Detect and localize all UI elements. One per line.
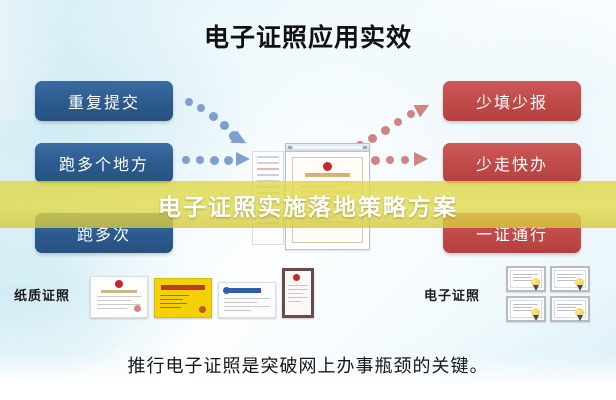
slide-title: 电子证照应用实效 — [0, 18, 616, 54]
benefit-box-1: 少填少报 — [443, 81, 581, 121]
electronic-certificate-icons — [506, 266, 590, 322]
connector-dot — [368, 134, 377, 143]
paper-certificate-label: 纸质证照 — [14, 285, 70, 304]
connector-dot — [407, 110, 415, 118]
connector-dot — [196, 156, 204, 164]
paper-cert-thumb-2 — [154, 278, 212, 318]
paper-cert-thumb-1 — [90, 276, 148, 318]
electronic-cert-icon-2 — [550, 266, 590, 292]
connector-dot — [386, 156, 394, 164]
connector-dot — [224, 156, 233, 165]
overlay-banner-text: 电子证照实施落地策略方案 — [0, 188, 616, 222]
browser-titlebar — [286, 144, 369, 152]
electronic-certificate-label: 电子证照 — [424, 285, 480, 304]
red-seal-icon — [323, 162, 332, 171]
paper-cert-thumb-3 — [218, 282, 276, 318]
connector-arrowhead — [414, 99, 433, 118]
problem-box-1: 重复提交 — [35, 81, 173, 121]
connector-dot — [185, 98, 193, 106]
benefit-box-2: 少走快办 — [443, 143, 581, 183]
paper-certificate-thumbnails — [90, 268, 314, 318]
slide-canvas: 电子证照应用实效 重复提交 跑多个地方 跑多次 少填少报 少走快办 一证通行 电… — [0, 0, 616, 400]
connector-dot — [381, 126, 390, 135]
paper-cert-thumb-4 — [282, 268, 314, 318]
connector-arrowhead — [414, 152, 428, 166]
connector-dot — [209, 112, 218, 121]
connector-dot — [220, 121, 229, 130]
electronic-cert-icon-4 — [550, 296, 590, 322]
connector-dot — [197, 104, 205, 112]
connector-dot — [401, 156, 409, 164]
connector-dot — [371, 156, 380, 165]
connector-dot — [394, 118, 402, 126]
slide-caption: 推行电子证照是突破网上办事瓶颈的关键。 — [0, 352, 616, 378]
electronic-cert-icon-1 — [506, 266, 546, 292]
problem-box-2: 跑多个地方 — [35, 143, 173, 183]
connector-arrowhead — [236, 152, 250, 166]
electronic-cert-icon-3 — [506, 296, 546, 322]
connector-dot — [182, 156, 190, 164]
connector-dot — [210, 156, 219, 165]
